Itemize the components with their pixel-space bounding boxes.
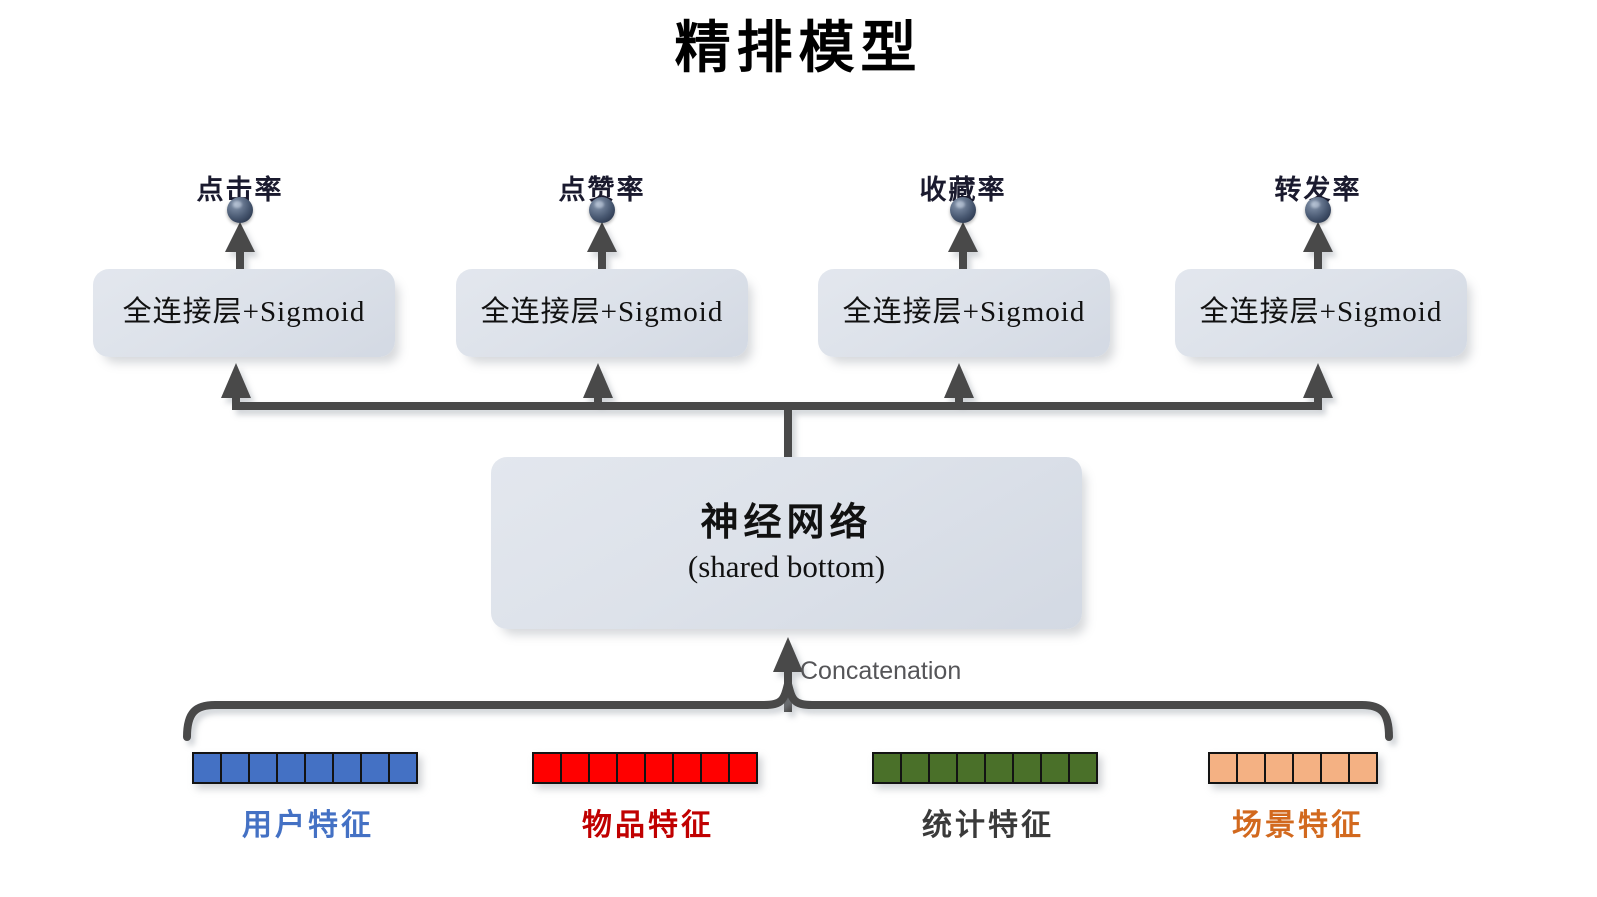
feature-cell xyxy=(220,752,250,784)
concatenation-label: Concatenation xyxy=(800,657,961,686)
feature-cell xyxy=(1068,752,1098,784)
feature-vector-scene[interactable] xyxy=(1208,752,1378,784)
arrow-bar-to-box-3 xyxy=(944,363,974,407)
feature-cell xyxy=(532,752,562,784)
fc-sigmoid-box-like[interactable]: 全连接层+Sigmoid xyxy=(456,269,748,357)
distribution-bar xyxy=(232,402,1322,410)
sphere-node-ctr xyxy=(227,197,253,223)
fc-sigmoid-box-label-ctr: 全连接层+Sigmoid xyxy=(123,295,366,330)
feature-cell xyxy=(332,752,362,784)
diagram-canvas: 精排模型 xyxy=(0,0,1597,897)
arrow-concat-to-sharedbottom xyxy=(773,637,803,712)
feature-cell xyxy=(900,752,930,784)
arrow-bar-to-box-1 xyxy=(221,363,251,407)
fc-sigmoid-box-label-share: 全连接层+Sigmoid xyxy=(1200,295,1443,330)
feature-cell xyxy=(192,752,222,784)
feature-cell xyxy=(1292,752,1322,784)
sphere-node-like xyxy=(589,197,615,223)
feature-cell xyxy=(276,752,306,784)
feature-cell xyxy=(1012,752,1042,784)
feature-vector-user[interactable] xyxy=(192,752,418,784)
fc-sigmoid-box-share[interactable]: 全连接层+Sigmoid xyxy=(1175,269,1467,357)
feature-cell xyxy=(872,752,902,784)
concatenation-bracket xyxy=(187,684,1389,737)
shared-bottom-box[interactable]: 神经网络 (shared bottom) xyxy=(491,457,1082,629)
fc-sigmoid-box-ctr[interactable]: 全连接层+Sigmoid xyxy=(93,269,395,357)
feature-cell xyxy=(1264,752,1294,784)
stem-sharedbottom-to-bar xyxy=(784,406,792,458)
feature-cell xyxy=(700,752,730,784)
feature-cell xyxy=(248,752,278,784)
feature-cell xyxy=(984,752,1014,784)
feature-cell xyxy=(1208,752,1238,784)
shared-bottom-title: 神经网络 xyxy=(688,500,885,546)
feature-cell xyxy=(360,752,390,784)
feature-cell xyxy=(1348,752,1378,784)
feature-cell xyxy=(728,752,758,784)
feature-cell xyxy=(588,752,618,784)
feature-cell xyxy=(616,752,646,784)
fc-sigmoid-box-label-favorite: 全连接层+Sigmoid xyxy=(843,295,1086,330)
arrow-bar-to-box-4 xyxy=(1303,363,1333,407)
fc-sigmoid-box-favorite[interactable]: 全连接层+Sigmoid xyxy=(818,269,1110,357)
sphere-node-favorite xyxy=(950,197,976,223)
feature-cell xyxy=(1320,752,1350,784)
sphere-node-share xyxy=(1305,197,1331,223)
feature-label-stat: 统计特征 xyxy=(922,800,1054,844)
feature-vector-item[interactable] xyxy=(532,752,758,784)
feature-cell xyxy=(1040,752,1070,784)
feature-label-user: 用户特征 xyxy=(242,800,374,844)
arrow-box-to-node-2 xyxy=(587,222,617,275)
arrow-box-to-node-3 xyxy=(948,222,978,275)
feature-vector-stat[interactable] xyxy=(872,752,1098,784)
feature-cell xyxy=(644,752,674,784)
feature-cell xyxy=(672,752,702,784)
feature-cell xyxy=(956,752,986,784)
feature-cell xyxy=(560,752,590,784)
feature-cell xyxy=(304,752,334,784)
shared-bottom-subtitle: (shared bottom) xyxy=(688,548,885,586)
arrow-bar-to-box-2 xyxy=(583,363,613,407)
feature-cell xyxy=(928,752,958,784)
arrow-box-to-node-4 xyxy=(1303,222,1333,275)
page-title: 精排模型 xyxy=(0,16,1597,83)
fc-sigmoid-box-label-like: 全连接层+Sigmoid xyxy=(481,295,724,330)
feature-cell xyxy=(388,752,418,784)
feature-label-scene: 场景特征 xyxy=(1232,800,1364,844)
feature-label-item: 物品特征 xyxy=(582,800,714,844)
feature-cell xyxy=(1236,752,1266,784)
arrow-box-to-node-1 xyxy=(225,222,255,275)
